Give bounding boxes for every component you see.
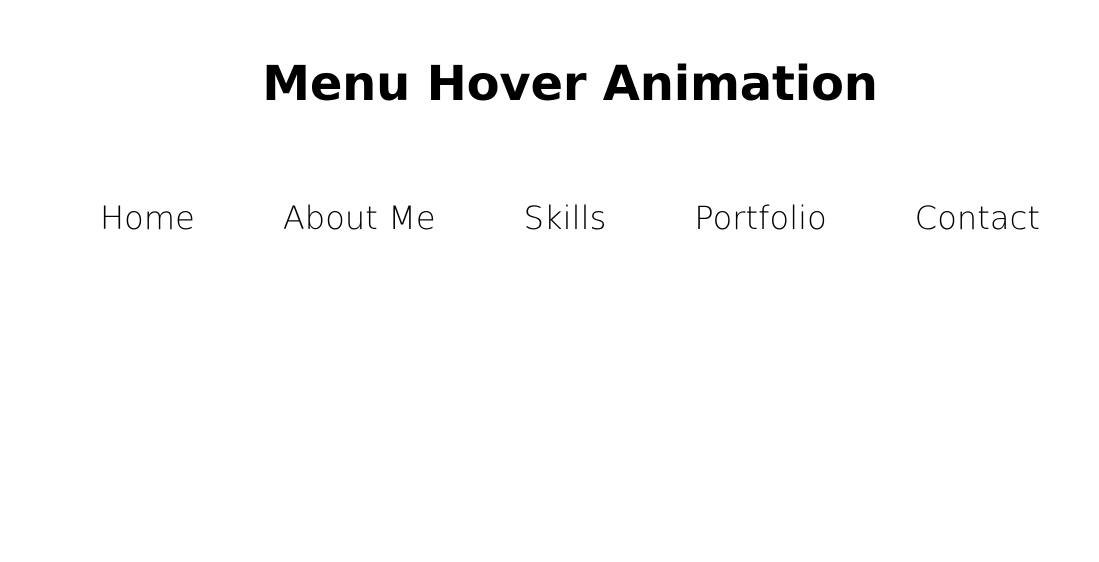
- menu-link-skills[interactable]: Skills: [524, 196, 607, 240]
- menu-link-contact[interactable]: Contact: [915, 196, 1040, 240]
- content-area: [0, 260, 1099, 562]
- menu-item-contact[interactable]: Contact: [915, 196, 1040, 240]
- main-navigation: Home About Me Skills Portfolio Contact: [0, 196, 1099, 240]
- menu-item-skills[interactable]: Skills: [524, 196, 607, 240]
- page-root: Menu Hover Animation Home About Me Skill…: [0, 0, 1099, 562]
- menu-list: Home About Me Skills Portfolio Contact: [100, 196, 1040, 240]
- menu-link-about-me[interactable]: About Me: [283, 196, 436, 240]
- menu-link-home[interactable]: Home: [100, 196, 195, 240]
- menu-item-home[interactable]: Home: [100, 196, 195, 240]
- menu-item-about-me[interactable]: About Me: [283, 196, 436, 240]
- page-title: Menu Hover Animation: [0, 60, 1099, 110]
- menu-link-portfolio[interactable]: Portfolio: [694, 196, 827, 240]
- menu-item-portfolio[interactable]: Portfolio: [694, 196, 827, 240]
